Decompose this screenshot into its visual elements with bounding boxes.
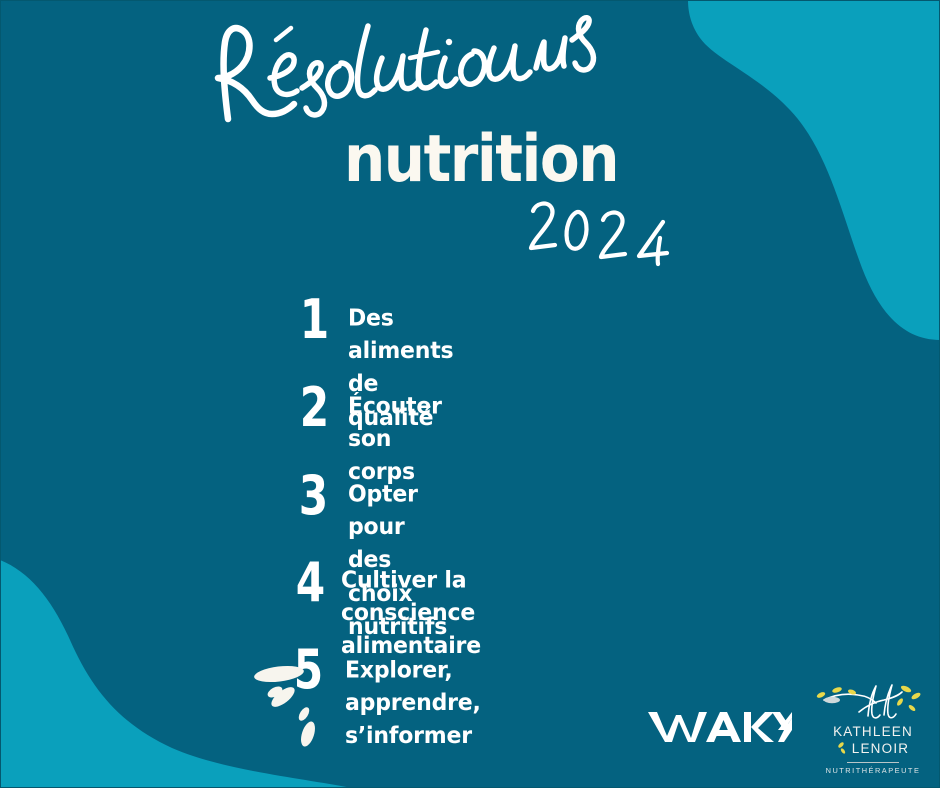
kl-name-line1: KATHLEEN — [812, 723, 934, 740]
logo-kathleen-lenoir: KATHLEEN LENOIR NUTRITHÉRAPEUTE — [812, 682, 934, 768]
kl-divider — [847, 762, 899, 763]
leaf-icon — [837, 741, 848, 756]
list-item-label: Cultiver la conscience alimentaire — [341, 564, 481, 663]
kl-monogram-icon — [812, 682, 934, 722]
kl-name-line2-row: LENOIR — [812, 740, 934, 757]
kl-name-block: KATHLEEN LENOIR NUTRITHÉRAPEUTE — [812, 723, 934, 775]
poster: Résolutions — [0, 0, 940, 788]
list-item-label: Explorer, apprendre, s’informer — [345, 654, 481, 753]
list-item-number: 2 — [297, 380, 332, 434]
list-item-number: 1 — [297, 292, 332, 346]
kl-name-line2: LENOIR — [852, 740, 909, 757]
list-item-number: 3 — [296, 468, 331, 522]
kl-tagline: NUTRITHÉRAPEUTE — [812, 766, 934, 775]
logo-waky: WAKY — [648, 706, 792, 748]
list-item-number: 4 — [293, 555, 328, 609]
list-item-number: 5 — [291, 642, 326, 696]
list-item-label: Écouter son corps — [348, 390, 442, 489]
